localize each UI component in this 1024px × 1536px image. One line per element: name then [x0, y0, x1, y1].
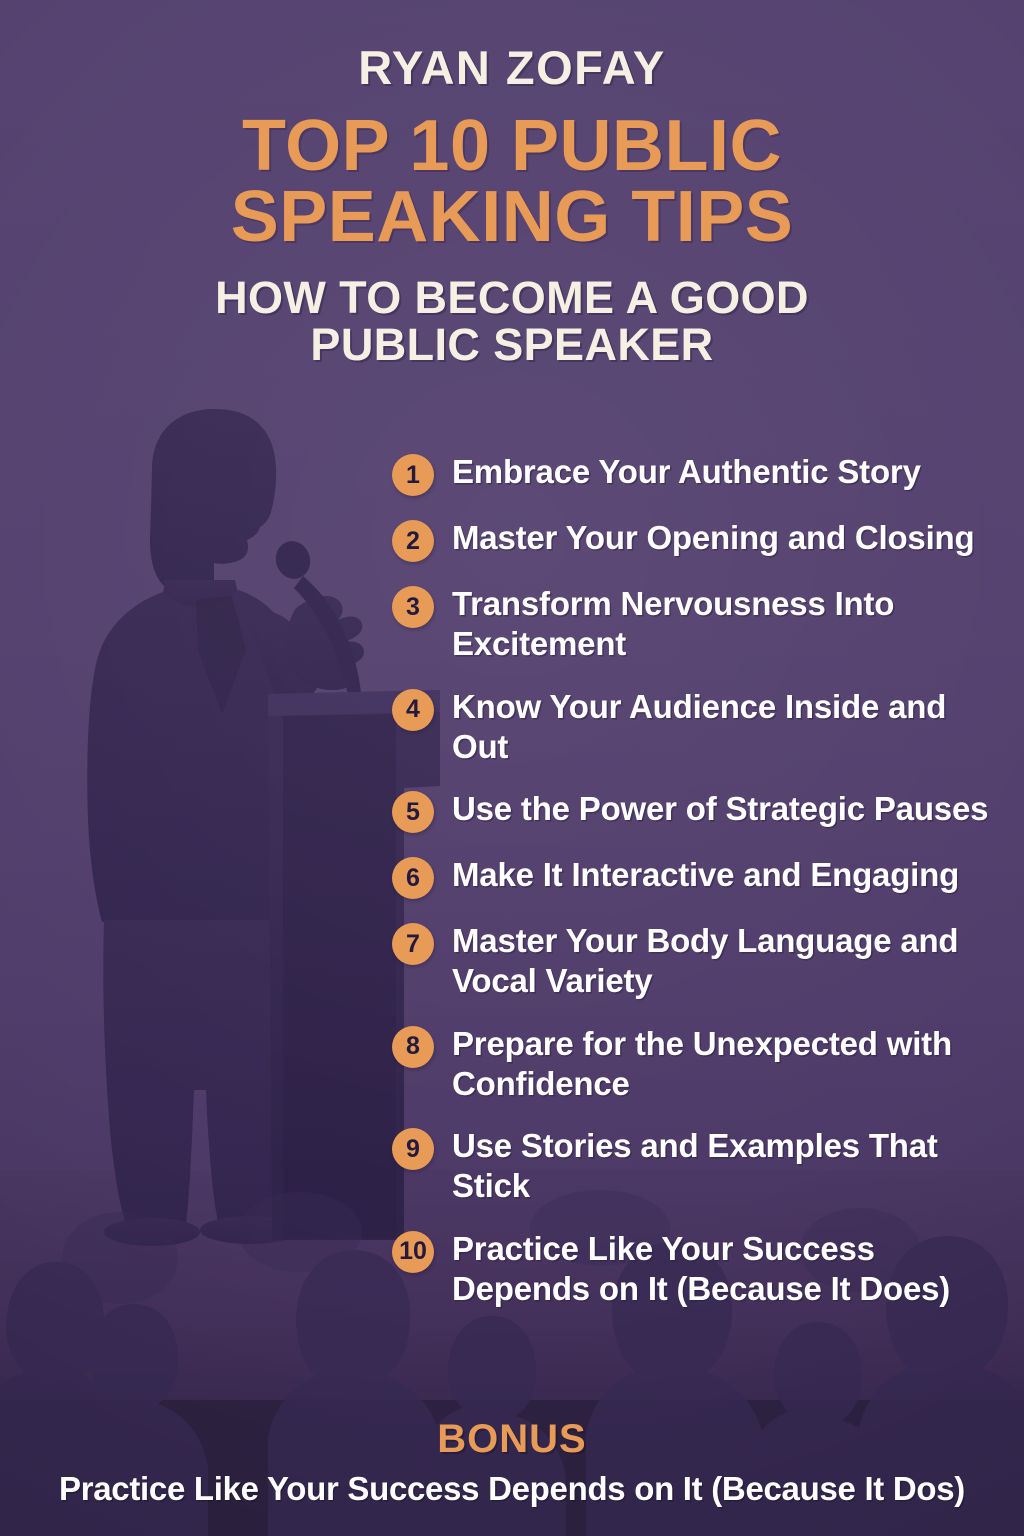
headline-line-1: TOP 10 PUBLIC: [0, 111, 1024, 182]
list-item: 3Transform Nervousness Into Excitement: [392, 584, 1004, 665]
tip-text: Master Your Opening and Closing: [452, 518, 974, 558]
list-item: 8Prepare for the Unexpected with Confide…: [392, 1024, 1004, 1105]
tip-number-badge: 1: [392, 454, 434, 496]
tip-text: Know Your Audience Inside and Out: [452, 687, 1004, 768]
subhead-line-2: PUBLIC SPEAKER: [0, 321, 1024, 368]
list-item: 1Embrace Your Authentic Story: [392, 452, 1004, 496]
tip-text: Transform Nervousness Into Excitement: [452, 584, 1004, 665]
tip-text: Master Your Body Language and Vocal Vari…: [452, 921, 1004, 1002]
list-item: 6Make It Interactive and Engaging: [392, 855, 1004, 899]
tip-number-badge: 3: [392, 586, 434, 628]
tip-number-badge: 2: [392, 520, 434, 562]
list-item: 5Use the Power of Strategic Pauses: [392, 789, 1004, 833]
tip-number-badge: 6: [392, 857, 434, 899]
tip-text: Use the Power of Strategic Pauses: [452, 789, 988, 829]
list-item: 4Know Your Audience Inside and Out: [392, 687, 1004, 768]
bonus-section: BONUS Practice Like Your Success Depends…: [0, 1418, 1024, 1508]
tip-text: Practice Like Your Success Depends on It…: [452, 1229, 1004, 1310]
poster-header: RYAN ZOFAY TOP 10 PUBLIC SPEAKING TIPS H…: [0, 0, 1024, 369]
brand-name: RYAN ZOFAY: [0, 44, 1024, 91]
bonus-title: BONUS: [0, 1418, 1024, 1460]
tip-number-badge: 8: [392, 1026, 434, 1068]
tip-number-badge: 10: [392, 1231, 434, 1273]
list-item: 7Master Your Body Language and Vocal Var…: [392, 921, 1004, 1002]
tip-text: Prepare for the Unexpected with Confiden…: [452, 1024, 1004, 1105]
page-title: TOP 10 PUBLIC SPEAKING TIPS: [0, 111, 1024, 252]
tip-text: Use Stories and Examples That Stick: [452, 1126, 1004, 1207]
list-item: 10Practice Like Your Success Depends on …: [392, 1229, 1004, 1310]
tip-number-badge: 5: [392, 791, 434, 833]
headline-line-2: SPEAKING TIPS: [0, 182, 1024, 253]
list-item: 2Master Your Opening and Closing: [392, 518, 1004, 562]
bonus-text: Practice Like Your Success Depends on It…: [0, 1470, 1024, 1508]
tip-number-badge: 4: [392, 689, 434, 731]
list-item: 9Use Stories and Examples That Stick: [392, 1126, 1004, 1207]
tip-number-badge: 9: [392, 1128, 434, 1170]
tip-number-badge: 7: [392, 923, 434, 965]
tips-list: 1Embrace Your Authentic Story2Master You…: [392, 452, 1004, 1331]
page-subtitle: HOW TO BECOME A GOOD PUBLIC SPEAKER: [0, 274, 1024, 369]
tip-text: Embrace Your Authentic Story: [452, 452, 921, 492]
tip-text: Make It Interactive and Engaging: [452, 855, 959, 895]
infographic-poster: RYAN ZOFAY TOP 10 PUBLIC SPEAKING TIPS H…: [0, 0, 1024, 1536]
subhead-line-1: HOW TO BECOME A GOOD: [0, 274, 1024, 321]
